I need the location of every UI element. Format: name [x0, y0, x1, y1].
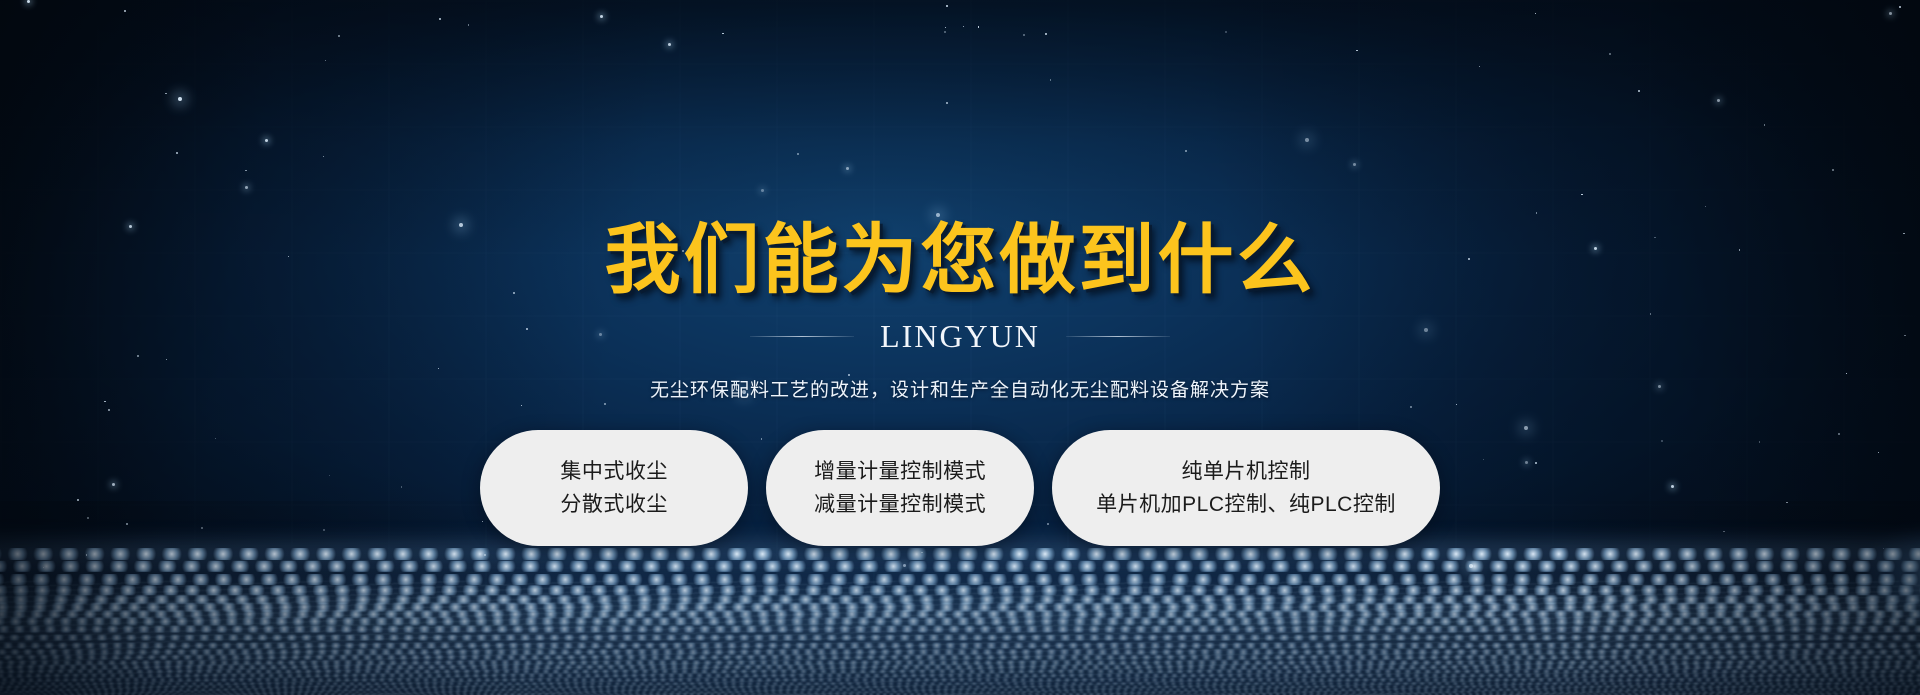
divider-line-right	[1066, 336, 1170, 337]
hero-banner: 我们能为您做到什么 LINGYUN 无尘环保配料工艺的改进，设计和生产全自动化无…	[0, 0, 1920, 695]
brand-name: LINGYUN	[880, 318, 1040, 355]
banner-tagline: 无尘环保配料工艺的改进，设计和生产全自动化无尘配料设备解决方案	[650, 375, 1270, 402]
feature-card-line-2: 单片机加PLC控制、纯PLC控制	[1096, 494, 1396, 515]
feature-card-line-2: 分散式收尘	[560, 494, 668, 515]
banner-content: 我们能为您做到什么 LINGYUN 无尘环保配料工艺的改进，设计和生产全自动化无…	[0, 0, 1920, 695]
brand-subline: LINGYUN	[750, 318, 1170, 355]
feature-card-line-1: 增量计量控制模式	[814, 461, 986, 482]
banner-headline: 我们能为您做到什么	[605, 222, 1316, 298]
feature-card-line-1: 集中式收尘	[560, 461, 668, 482]
feature-card-line-2: 减量计量控制模式	[814, 494, 986, 515]
feature-card[interactable]: 集中式收尘 分散式收尘	[480, 430, 748, 546]
feature-card-list: 集中式收尘 分散式收尘 增量计量控制模式 减量计量控制模式 纯单片机控制 单片机…	[480, 430, 1440, 546]
divider-line-left	[750, 336, 854, 337]
feature-card-line-1: 纯单片机控制	[1181, 461, 1310, 482]
feature-card[interactable]: 增量计量控制模式 减量计量控制模式	[766, 430, 1034, 546]
feature-card[interactable]: 纯单片机控制 单片机加PLC控制、纯PLC控制	[1052, 430, 1440, 546]
